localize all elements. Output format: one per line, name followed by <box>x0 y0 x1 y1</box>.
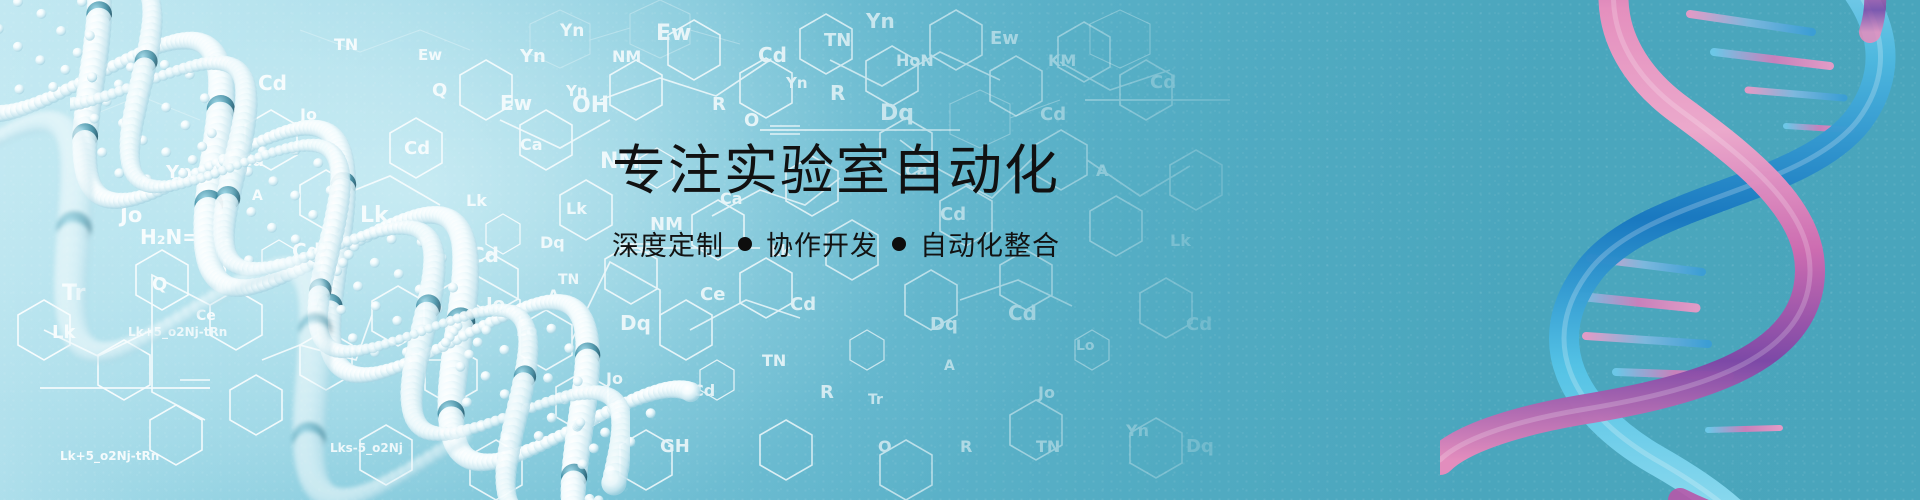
colored-dna-helix <box>1440 0 1920 500</box>
subtitle-item-1: 深度定制 <box>612 224 724 263</box>
page-title: 专注实验室自动化 <box>612 143 1172 198</box>
bullet-dot-icon <box>892 237 906 251</box>
hero-subtitle: 深度定制 协作开发 自动化整合 <box>612 224 1172 263</box>
hero-banner: Tr Jo Tr H₂N= GH Q Lk+5_o2Nj-tRn . Yn Lk… <box>0 0 1920 500</box>
bead-dna-helix-blurred <box>0 40 470 500</box>
subtitle-item-3: 自动化整合 <box>920 224 1060 263</box>
subtitle-item-2: 协作开发 <box>766 224 878 263</box>
hero-text-block: 专注实验室自动化 深度定制 协作开发 自动化整合 <box>612 143 1172 263</box>
bullet-dot-icon <box>738 237 752 251</box>
